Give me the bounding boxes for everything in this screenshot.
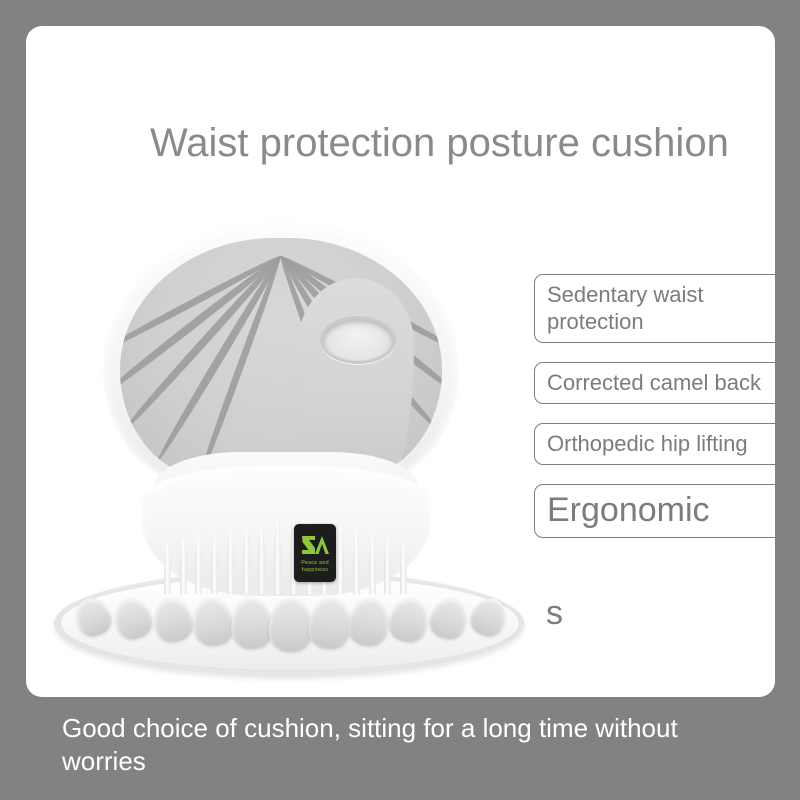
seat-front-pad (345, 595, 392, 648)
brand-logo-icon (300, 533, 330, 557)
brand-tagline: Peace and happiness (301, 560, 329, 573)
seat-front-pad (189, 595, 236, 648)
footer-caption: Good choice of cushion, sitting for a lo… (62, 712, 762, 778)
backrest-pad (120, 238, 442, 478)
feature-box-corrected-camel-back[interactable]: Corrected camel back (534, 362, 775, 404)
seat-front-pad (425, 593, 472, 643)
product-banner: Waist protection posture cushion (0, 0, 800, 800)
product-card: Waist protection posture cushion (26, 26, 775, 697)
page-title: Waist protection posture cushion (150, 118, 729, 168)
seat-front-pad (70, 593, 116, 641)
feature-box-orthopedic-hip-lifting[interactable]: Orthopedic hip lifting (534, 423, 775, 465)
feature-list: Sedentary waist protection Corrected cam… (534, 274, 775, 557)
seat-front-pad (385, 594, 432, 646)
seat-front-pad (110, 593, 157, 643)
seat-front-pad (229, 596, 275, 650)
seat-front-pads (76, 568, 506, 658)
product-image: Peace and happiness (46, 216, 516, 686)
backrest-center-panel (298, 278, 414, 478)
feature-box-sedentary-waist-protection[interactable]: Sedentary waist protection (534, 274, 775, 343)
feature-box-ergonomics-overflow-text: s (546, 592, 563, 635)
seat-front-pad (466, 593, 512, 641)
backrest-center-hole (320, 316, 396, 364)
brand-badge: Peace and happiness (294, 524, 336, 582)
feature-box-ergonomics[interactable]: Ergonomic (534, 484, 775, 538)
seat-front-pad (269, 598, 313, 652)
seat-front-pad (150, 594, 197, 646)
seat-front-pad (307, 596, 353, 650)
